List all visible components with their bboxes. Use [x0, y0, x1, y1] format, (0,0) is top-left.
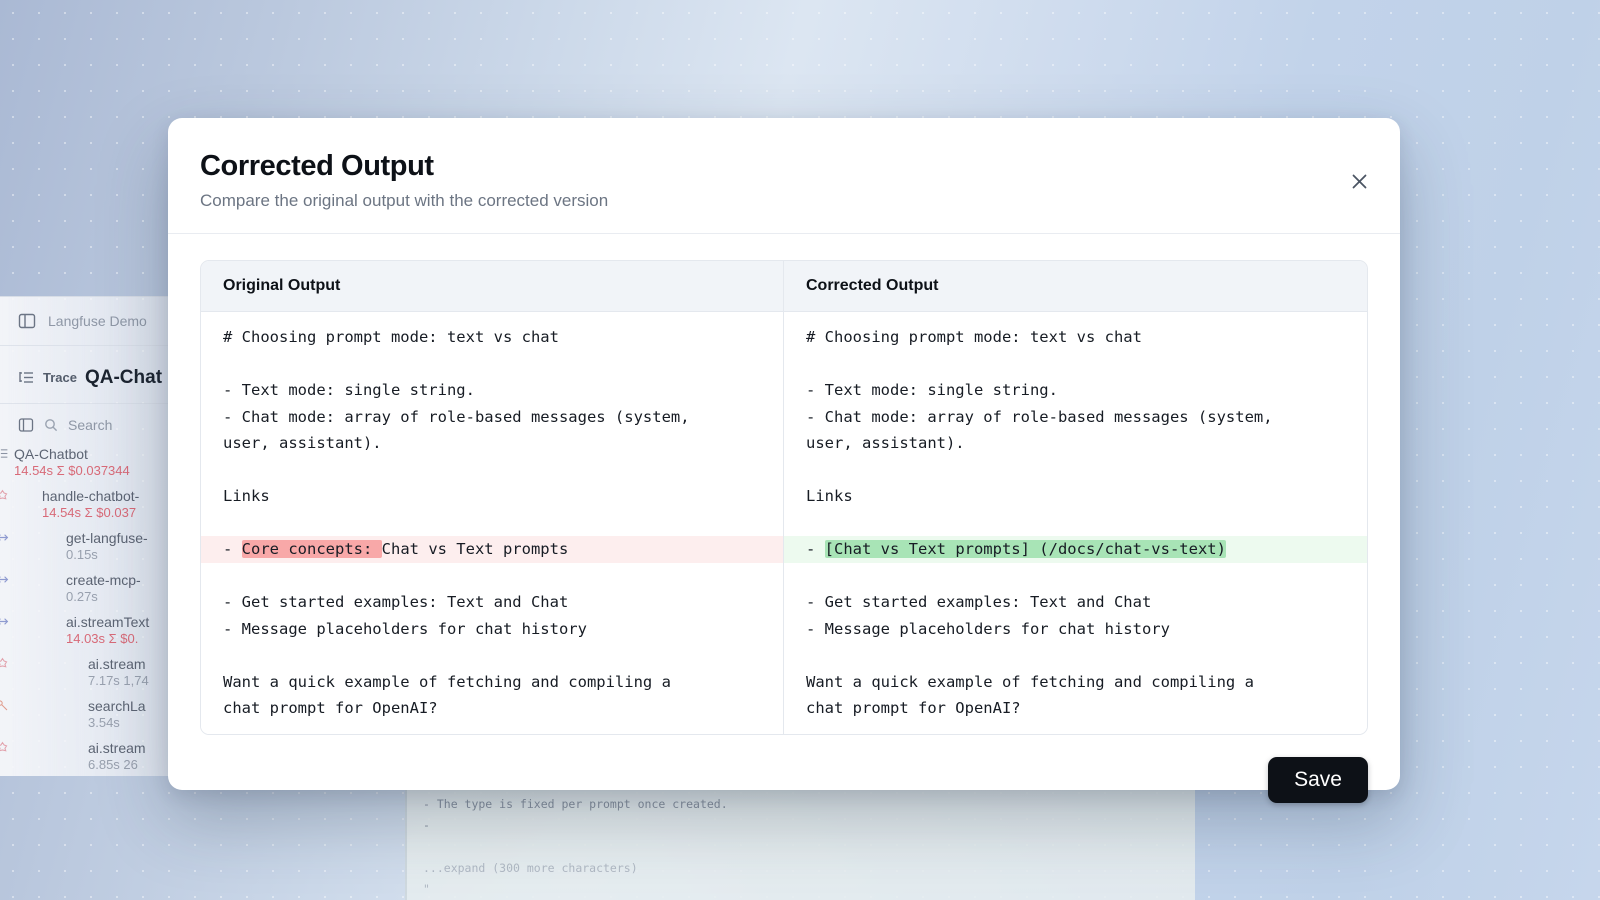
- panel-toggle-icon[interactable]: [18, 312, 36, 330]
- search-icon: [44, 418, 58, 432]
- original-output-column: # Choosing prompt mode: text vs chat - T…: [201, 312, 784, 734]
- column-header-corrected: Corrected Output: [784, 261, 1367, 311]
- close-icon: [1350, 172, 1369, 191]
- diff-line: chat prompt for OpenAI?: [201, 695, 783, 734]
- code-line: [423, 837, 1179, 858]
- diff-line: [784, 457, 1367, 484]
- arrows-icon: [0, 615, 9, 633]
- diff-line: - Text mode: single string.: [201, 377, 783, 404]
- diff-line: - Get started examples: Text and Chat: [784, 589, 1367, 616]
- diff-line: [784, 563, 1367, 590]
- diff-line: [201, 457, 783, 484]
- diff-line: [784, 351, 1367, 378]
- diff-table: Original Output Corrected Output # Choos…: [200, 260, 1368, 735]
- background-trace-bar: Trace QA-Chat: [0, 352, 190, 404]
- dialog-body: Original Output Corrected Output # Choos…: [168, 234, 1400, 735]
- diff-line: [201, 351, 783, 378]
- diff-line: Want a quick example of fetching and com…: [201, 669, 783, 696]
- diff-line: user, assistant).: [784, 430, 1367, 457]
- diff-line: [201, 563, 783, 590]
- diff-line: Links: [784, 483, 1367, 510]
- diff-line: - Chat mode: array of role-based message…: [201, 404, 783, 431]
- diff-line: - Message placeholders for chat history: [784, 616, 1367, 643]
- list-tree-icon: [0, 447, 9, 465]
- page-title: Corrected Output: [200, 150, 1364, 183]
- sidebar-collapse-icon[interactable]: [18, 417, 34, 433]
- corrected-output-column: # Choosing prompt mode: text vs chat - T…: [784, 312, 1367, 734]
- close-button[interactable]: [1344, 166, 1374, 196]
- search-input[interactable]: Search: [68, 417, 112, 433]
- project-name: Langfuse Demo: [48, 313, 147, 329]
- diff-line: - Chat mode: array of role-based message…: [784, 404, 1367, 431]
- background-topbar: Langfuse Demo: [0, 296, 190, 346]
- diff-line: [201, 510, 783, 537]
- code-line: ...expand (300 more characters): [423, 858, 1179, 879]
- diff-line: # Choosing prompt mode: text vs chat: [201, 312, 783, 351]
- span-icon: [0, 741, 9, 759]
- diff-line: # Choosing prompt mode: text vs chat: [784, 312, 1367, 351]
- trace-label: Trace: [43, 370, 77, 385]
- save-button[interactable]: Save: [1268, 757, 1368, 803]
- diff-line: - Text mode: single string.: [784, 377, 1367, 404]
- diff-line: user, assistant).: [201, 430, 783, 457]
- column-header-original: Original Output: [201, 261, 784, 311]
- diff-line: [201, 642, 783, 669]
- diff-line: chat prompt for OpenAI?: [784, 695, 1367, 734]
- dialog-footer: Save: [168, 735, 1400, 833]
- corrected-output-dialog: Corrected Output Compare the original ou…: [168, 118, 1400, 790]
- diff-line: Links: [201, 483, 783, 510]
- trace-list-icon: [18, 369, 35, 386]
- deleted-text-mark: Core concepts:: [242, 540, 382, 558]
- background-search-bar[interactable]: Search: [0, 404, 190, 446]
- dialog-header: Corrected Output Compare the original ou…: [168, 118, 1400, 234]
- dialog-subtitle: Compare the original output with the cor…: [200, 191, 1364, 211]
- span-icon: [0, 657, 9, 675]
- diff-line: [784, 510, 1367, 537]
- diff-line-added: - [Chat vs Text prompts] (/docs/chat-vs-…: [784, 536, 1367, 563]
- diff-line: - Message placeholders for chat history: [201, 616, 783, 643]
- code-line: ": [423, 879, 1179, 900]
- diff-table-body: # Choosing prompt mode: text vs chat - T…: [201, 312, 1367, 734]
- diff-line-removed: - Core concepts: Chat vs Text prompts: [201, 536, 783, 563]
- added-text-mark: [Chat vs Text prompts] (/docs/chat-vs-te…: [825, 540, 1226, 558]
- diff-table-header: Original Output Corrected Output: [201, 261, 1367, 312]
- tool-icon: [0, 699, 9, 717]
- diff-line: [784, 642, 1367, 669]
- diff-line: - Get started examples: Text and Chat: [201, 589, 783, 616]
- arrows-icon: [0, 573, 9, 591]
- diff-line: Want a quick example of fetching and com…: [784, 669, 1367, 696]
- trace-name: QA-Chat: [85, 367, 162, 389]
- arrows-icon: [0, 531, 9, 549]
- span-icon: [0, 489, 9, 507]
